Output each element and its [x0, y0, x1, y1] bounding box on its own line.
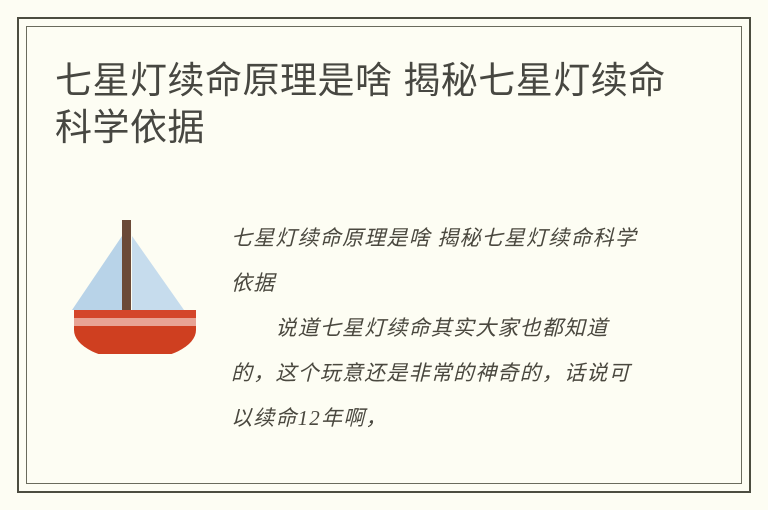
sailboat-hull-top — [74, 310, 196, 318]
article-card: 七星灯续命原理是啥 揭秘七星灯续命科学依据 七星灯续命原理是啥 揭秘七星灯续命科… — [0, 0, 768, 510]
sailboat-hull-stripe — [74, 318, 196, 326]
sailboat-left-sail — [72, 236, 122, 310]
sailboat-hull — [74, 326, 196, 354]
sailboat-mast — [122, 220, 131, 316]
page-title: 七星灯续命原理是啥 揭秘七星灯续命科学依据 — [55, 57, 695, 151]
article-body-text: 七星灯续命原理是啥 揭秘七星灯续命科学依据 说道七星灯续命其实大家也都知道的，这… — [231, 216, 643, 441]
sailboat-right-sail — [132, 236, 184, 310]
sailboat-icon — [62, 206, 208, 354]
